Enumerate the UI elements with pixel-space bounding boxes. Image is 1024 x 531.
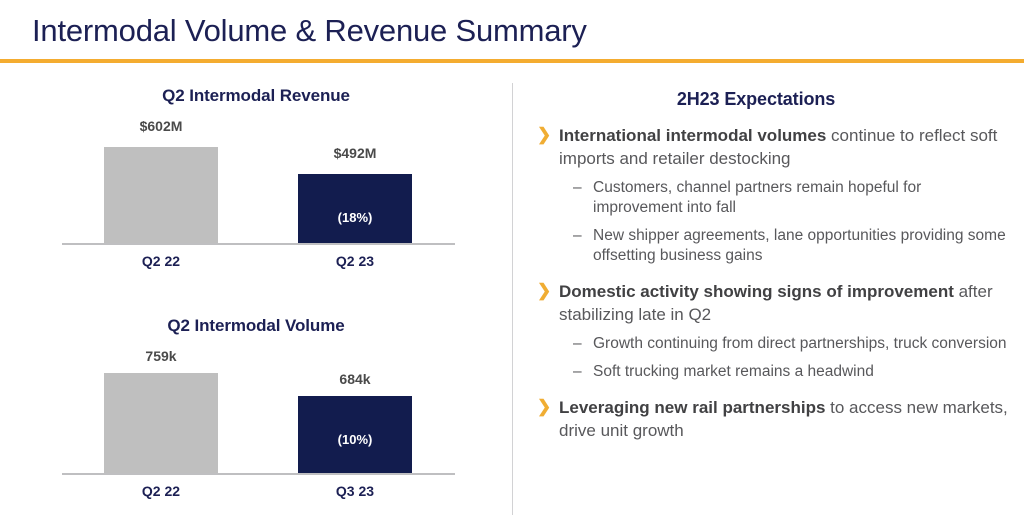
expectations-bullet-list: ❯International intermodal volumes contin… [513, 124, 1013, 446]
page-title: Intermodal Volume & Revenue Summary [32, 13, 587, 49]
expectations-title: 2H23 Expectations [513, 89, 999, 110]
subbullet-item-1-1: –Customers, channel partners remain hope… [513, 178, 1013, 218]
en-dash-icon: – [573, 362, 582, 382]
bullet-item-1-lead: International intermodal volumes [559, 126, 826, 145]
subbullet-item-2-1-text: Growth continuing from direct partnershi… [593, 335, 1007, 352]
subbullet-item-1-1-text: Customers, channel partners remain hopef… [593, 179, 921, 216]
en-dash-icon: – [573, 334, 582, 354]
chart-revenue-axis [62, 243, 455, 245]
chart-volume-delta-label: (10%) [298, 432, 412, 447]
chart-revenue-bar-prior[interactable] [104, 147, 218, 243]
chart-volume-category-current: Q3 23 [275, 483, 435, 499]
chart-volume-category-prior: Q2 22 [81, 483, 241, 499]
bullet-group-gap [513, 382, 1013, 396]
subbullet-item-2-2: –Soft trucking market remains a headwind [513, 362, 1013, 382]
chart-volume-value-label-prior: 759k [81, 348, 241, 364]
chevron-right-icon: ❯ [537, 395, 551, 418]
chart-revenue: Q2 Intermodal Revenue $602M $492M (18%) … [0, 86, 512, 276]
bullet-item-2-lead: Domestic activity showing signs of impro… [559, 282, 954, 301]
chart-revenue-category-prior: Q2 22 [81, 253, 241, 269]
en-dash-icon: – [573, 226, 582, 246]
chart-revenue-title: Q2 Intermodal Revenue [0, 86, 512, 106]
title-accent-rule [0, 59, 1024, 63]
chart-volume-plot: 759k 684k (10%) Q2 22 Q3 23 [0, 338, 512, 506]
chart-revenue-delta-label: (18%) [298, 210, 412, 225]
chart-revenue-category-current: Q2 23 [275, 253, 435, 269]
chart-volume-bar-current[interactable]: (10%) [298, 396, 412, 473]
chart-revenue-bar-current[interactable]: (18%) [298, 174, 412, 243]
expectations-panel: 2H23 Expectations ❯International intermo… [513, 86, 1024, 516]
subbullet-item-2-2-text: Soft trucking market remains a headwind [593, 363, 874, 380]
bullet-item-2: ❯Domestic activity showing signs of impr… [513, 280, 1013, 326]
bullet-group-gap [513, 266, 1013, 280]
subbullet-item-1-2-text: New shipper agreements, lane opportuniti… [593, 227, 1006, 264]
chart-volume-value-label-current: 684k [275, 371, 435, 387]
subbullet-item-1-2: –New shipper agreements, lane opportunit… [513, 226, 1013, 266]
chart-volume-title: Q2 Intermodal Volume [0, 316, 512, 336]
bullet-item-3-lead: Leveraging new rail partnerships [559, 398, 825, 417]
chart-volume-axis [62, 473, 455, 475]
en-dash-icon: – [573, 178, 582, 198]
slide-canvas: Intermodal Volume & Revenue Summary Q2 I… [0, 0, 1024, 531]
bullet-item-3: ❯Leveraging new rail partnerships to acc… [513, 396, 1013, 442]
chart-revenue-plot: $602M $492M (18%) Q2 22 Q2 23 [0, 108, 512, 276]
chart-revenue-value-label-prior: $602M [81, 118, 241, 134]
chart-revenue-value-label-current: $492M [275, 145, 435, 161]
chart-volume-bar-prior[interactable] [104, 373, 218, 473]
bullet-item-1: ❯International intermodal volumes contin… [513, 124, 1013, 170]
subbullet-item-2-1: –Growth continuing from direct partnersh… [513, 334, 1013, 354]
chevron-right-icon: ❯ [537, 123, 551, 146]
chart-volume: Q2 Intermodal Volume 759k 684k (10%) Q2 … [0, 316, 512, 506]
chevron-right-icon: ❯ [537, 279, 551, 302]
